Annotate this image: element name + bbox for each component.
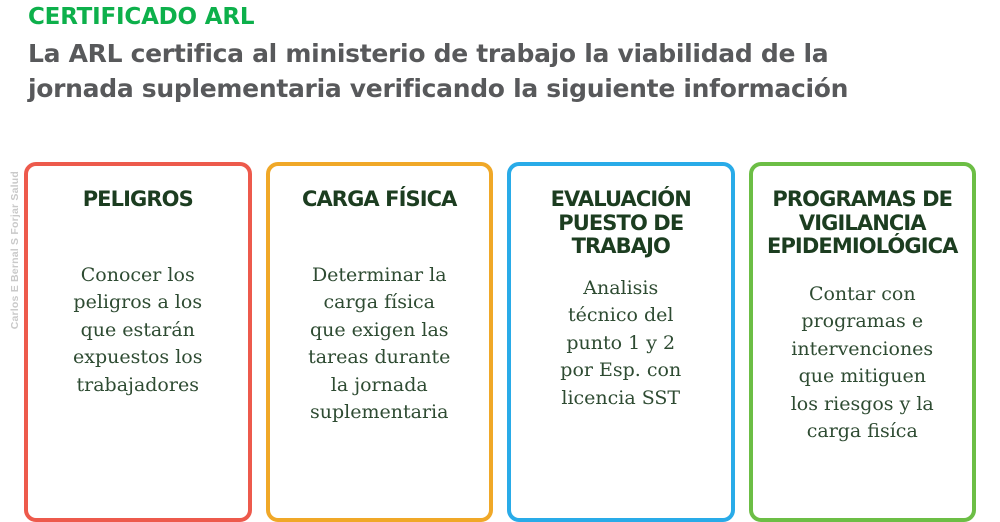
info-card-body: Conocer los peligros a los que estarán e… bbox=[73, 262, 202, 400]
info-card-row: PELIGROS Conocer los peligros a los que … bbox=[24, 162, 976, 522]
info-card-body: Analisis técnico del punto 1 y 2 por Esp… bbox=[560, 275, 681, 413]
info-card-title: CARGA FÍSICA bbox=[302, 188, 457, 212]
info-card-peligros: PELIGROS Conocer los peligros a los que … bbox=[24, 162, 252, 522]
header: CERTIFICADO ARL La ARL certifica al mini… bbox=[28, 4, 968, 107]
page-eyebrow-title: CERTIFICADO ARL bbox=[28, 4, 968, 32]
info-card-title: PROGRAMAS DE VIGILANCIA EPIDEMIOLÓGICA bbox=[767, 188, 958, 259]
author-watermark-label: Carlos E Bernal S Forjar Salud bbox=[9, 171, 21, 329]
info-card-title: PELIGROS bbox=[83, 188, 193, 212]
info-card-programas-vigilancia-epidemiologica: PROGRAMAS DE VIGILANCIA EPIDEMIOLÓGICA C… bbox=[749, 162, 977, 522]
info-card-body: Contar con programas e intervenciones qu… bbox=[791, 281, 934, 446]
info-card-title: EVALUACIÓN PUESTO DE TRABAJO bbox=[551, 188, 691, 259]
page-subtitle: La ARL certifica al ministerio de trabaj… bbox=[28, 36, 928, 107]
info-card-body: Determinar la carga física que exigen la… bbox=[308, 262, 450, 427]
info-card-carga-fisica: CARGA FÍSICA Determinar la carga física … bbox=[266, 162, 494, 522]
info-card-evaluacion-puesto-trabajo: EVALUACIÓN PUESTO DE TRABAJO Analisis té… bbox=[507, 162, 735, 522]
